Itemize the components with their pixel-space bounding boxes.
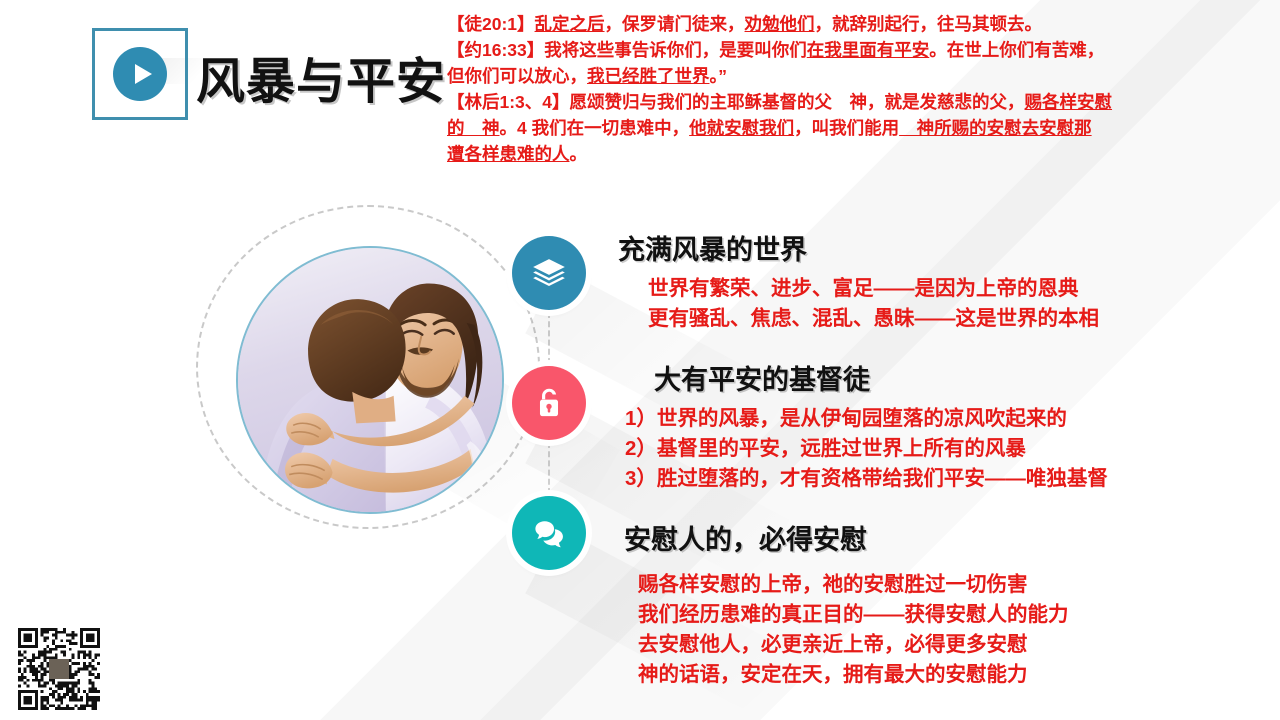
scripture-emphasis: 他就安慰我们 xyxy=(689,118,794,138)
scripture-block: 【徒20:1】乱定之后，保罗请门徒来，劝勉他们，就辞别起行，往马其顿去。【约16… xyxy=(447,12,1259,168)
scripture-line: 【林后1:3、4】愿颂赞归与我们的主耶稣基督的父 神，就是发慈悲的父，赐各样安慰 xyxy=(447,90,1259,115)
scripture-emphasis: 在我里面有平安 xyxy=(807,40,930,60)
connector-line-2 xyxy=(548,442,550,494)
scripture-reference: 【林后1:3、4】 xyxy=(447,92,570,112)
scripture-text: ，保罗请门徒来， xyxy=(605,14,745,34)
section-1-lines: 世界有繁荣、进步、富足——是因为上帝的恩典 更有骚乱、焦虑、混乱、愚昧——这是世… xyxy=(648,274,1099,334)
scripture-line: 的 神。4 我们在一切患难中，他就安慰我们，叫我们能用 神所赐的安慰去安慰那 xyxy=(447,116,1259,141)
scripture-text: 。在世上你们有苦难， xyxy=(929,40,1104,60)
scripture-text: 愿颂赞归与我们的主耶稣基督的父 神，就是发慈悲的父， xyxy=(570,92,1025,112)
section-2-heading: 大有平安的基督徒 xyxy=(654,358,870,397)
scripture-emphasis: 劝勉他们 xyxy=(745,14,815,34)
layers-icon xyxy=(530,254,568,292)
scripture-emphasis: 乱定之后 xyxy=(535,14,605,34)
section-1-heading: 充满风暴的世界 xyxy=(618,228,807,267)
page-title: 风暴与平安 xyxy=(196,42,446,113)
scripture-line: 【约16:33】我将这些事告诉你们，是要叫你们在我里面有平安。在世上你们有苦难， xyxy=(447,38,1259,63)
jesus-embrace-photo xyxy=(236,246,504,514)
section-2-line-3: 3）胜过堕落的，才有资格带给我们平安——唯独基督 xyxy=(625,464,1108,494)
sidebar-item-icon-chat[interactable] xyxy=(512,496,586,570)
scripture-emphasis: 神所赐的安慰去安慰那 xyxy=(899,118,1092,138)
section-1-line-1: 世界有繁荣、进步、富足——是因为上帝的恩典 xyxy=(648,274,1099,304)
play-button-icon xyxy=(113,47,167,101)
scripture-text: 。4 我们在一切患难中， xyxy=(500,118,690,138)
scripture-reference: 【徒20:1】 xyxy=(447,14,535,34)
scripture-text: ，叫我们能用 xyxy=(794,118,899,138)
qr-code[interactable] xyxy=(18,628,100,710)
scripture-text: 。 xyxy=(570,144,588,164)
scripture-line: 遭各样患难的人。 xyxy=(447,142,1259,167)
scripture-emphasis: 我已经胜了世界 xyxy=(587,66,710,86)
section-3-line-2: 我们经历患难的真正目的——获得安慰人的能力 xyxy=(638,600,1069,630)
scripture-reference: 【约16:33】 xyxy=(447,40,544,60)
section-3-lines: 赐各样安慰的上帝，祂的安慰胜过一切伤害 我们经历患难的真正目的——获得安慰人的能… xyxy=(638,570,1069,690)
unlock-icon xyxy=(530,384,568,422)
section-3-line-1: 赐各样安慰的上帝，祂的安慰胜过一切伤害 xyxy=(638,570,1069,600)
logo-frame xyxy=(92,28,188,120)
section-3-line-3: 去安慰他人，必更亲近上帝，必得更多安慰 xyxy=(638,630,1069,660)
section-2-line-1: 1）世界的风暴，是从伊甸园堕落的凉风吹起来的 xyxy=(625,404,1108,434)
scripture-text: ，就辞别起行，往马其顿去。 xyxy=(815,14,1043,34)
connector-line-1 xyxy=(548,312,550,364)
scripture-emphasis: 遭各样患难的人 xyxy=(447,144,570,164)
scripture-text: 。” xyxy=(710,66,728,86)
chat-bubbles-icon xyxy=(530,514,568,552)
section-2-line-2: 2）基督里的平安，远胜过世界上所有的风暴 xyxy=(625,434,1108,464)
scripture-emphasis: 的 神 xyxy=(447,118,500,138)
section-1-line-2: 更有骚乱、焦虑、混乱、愚昧——这是世界的本相 xyxy=(648,304,1099,334)
scripture-emphasis: 赐各样安慰 xyxy=(1025,92,1113,112)
section-3-line-4: 神的话语，安定在天，拥有最大的安慰能力 xyxy=(638,660,1069,690)
scripture-text: 但你们可以放心， xyxy=(447,66,587,86)
section-3-heading: 安慰人的，必得安慰 xyxy=(624,518,867,557)
section-2-lines: 1）世界的风暴，是从伊甸园堕落的凉风吹起来的 2）基督里的平安，远胜过世界上所有… xyxy=(625,404,1108,494)
scripture-line: 但你们可以放心，我已经胜了世界。” xyxy=(447,64,1259,89)
sidebar-item-icon-unlock[interactable] xyxy=(512,366,586,440)
scripture-line: 【徒20:1】乱定之后，保罗请门徒来，劝勉他们，就辞别起行，往马其顿去。 xyxy=(447,12,1259,37)
sidebar-item-icon-layers[interactable] xyxy=(512,236,586,310)
slide-canvas: 风暴与平安 【徒20:1】乱定之后，保罗请门徒来，劝勉他们，就辞别起行，往马其顿… xyxy=(0,0,1280,720)
scripture-text: 我将这些事告诉你们，是要叫你们 xyxy=(544,40,807,60)
